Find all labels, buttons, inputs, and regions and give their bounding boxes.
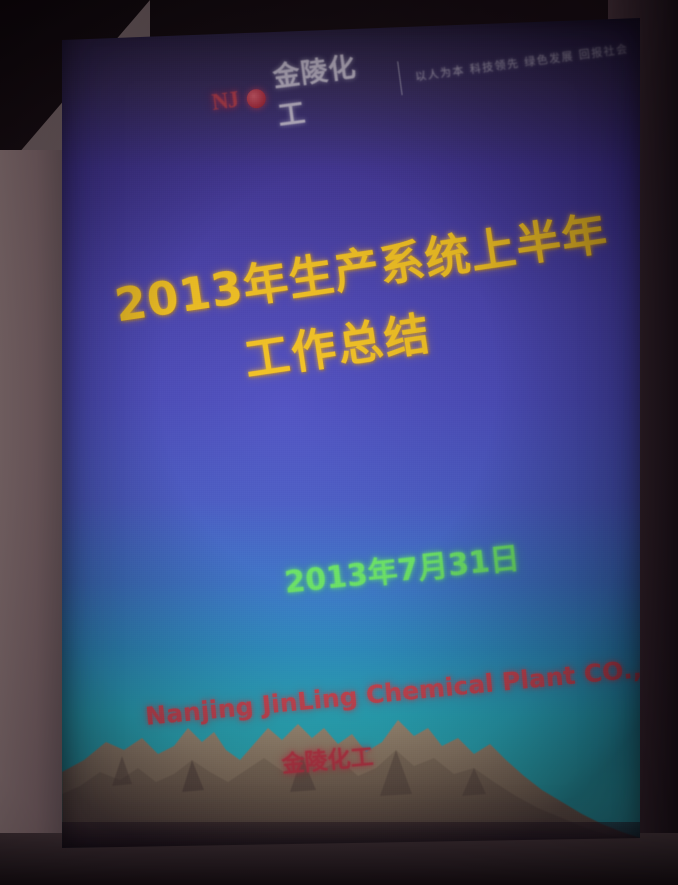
nj-mark-icon: NJ <box>210 87 239 116</box>
company-logo: NJ 金陵化工 以人为本 科技领先 绿色发展 回报社会 <box>207 18 633 140</box>
logo-company-name-cn: 金陵化工 <box>270 42 389 134</box>
logo-tagline: 以人为本 科技领先 绿色发展 回报社会 <box>414 40 629 84</box>
slide-date: 2013年7月31日 <box>282 533 521 601</box>
logo-divider <box>397 61 402 95</box>
projected-slide: NJ 金陵化工 以人为本 科技领先 绿色发展 回报社会 2013年生产系统上半年… <box>62 18 640 848</box>
left-wall-lower <box>0 150 66 885</box>
slide-content: NJ 金陵化工 以人为本 科技领先 绿色发展 回报社会 2013年生产系统上半年… <box>62 18 640 848</box>
nj-seal-dot-icon <box>246 88 267 109</box>
photo-scene: NJ 金陵化工 以人为本 科技领先 绿色发展 回报社会 2013年生产系统上半年… <box>0 0 678 885</box>
slide-title: 2013年生产系统上半年 工作总结 <box>110 196 625 406</box>
